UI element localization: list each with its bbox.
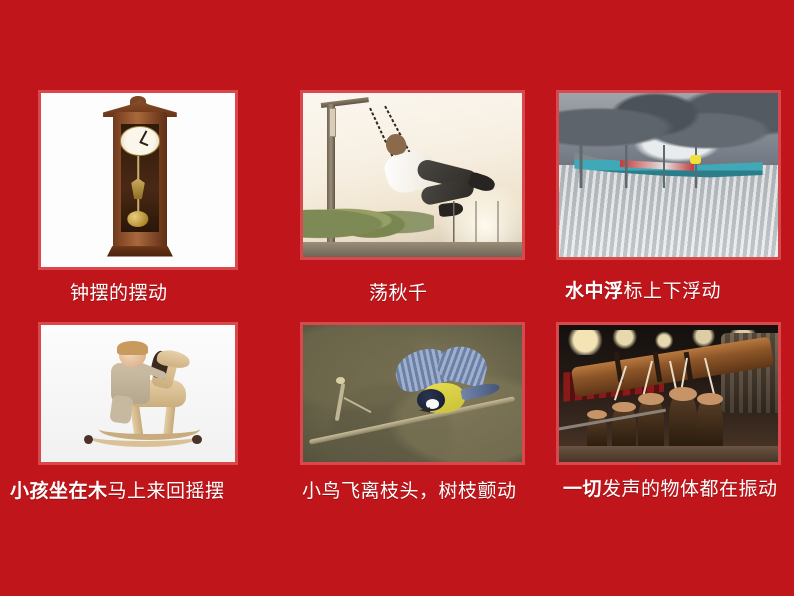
pendulum-bob (127, 211, 148, 227)
clock-base (107, 246, 173, 256)
caption-swing: 荡秋千 (369, 283, 428, 305)
caption-bell-bold: 一切 (563, 479, 602, 500)
image-frame-clock[interactable] (38, 90, 238, 270)
monk-head-2 (638, 393, 664, 406)
image-frame-rocking-horse[interactable] (38, 322, 238, 465)
photo-child-rocking-horse (41, 325, 235, 462)
caption-buoy: 水中浮标上下浮动 (565, 281, 721, 303)
rocker-rail-front (99, 418, 200, 440)
ground-strip (303, 242, 522, 257)
monk-head-4 (697, 393, 723, 406)
caption-horse-rest: 马上来回摇摆 (108, 481, 225, 502)
image-frame-swing[interactable] (300, 90, 525, 260)
image-frame-bird[interactable] (300, 322, 525, 465)
boom-posts (574, 145, 762, 188)
caption-bird: 小鸟飞离枝头，树枝颤动 (302, 481, 517, 503)
caption-clock: 钟摆的摆动 (70, 283, 168, 305)
caption-rocking-horse: 小孩坐在木马上来回摇摆 (10, 481, 225, 503)
image-frame-buoy[interactable] (556, 90, 781, 260)
bird-cheek-patch (426, 399, 439, 409)
photo-floating-boom (559, 93, 778, 257)
photo-child-on-swing (303, 93, 522, 257)
photo-pendulum-clock (41, 93, 235, 267)
photo-monks-striking-bell (559, 325, 778, 462)
clock-dial (120, 126, 161, 156)
caption-temple-bell: 一切发声的物体都在振动 (563, 479, 778, 501)
monk-3 (669, 391, 697, 454)
caption-bird-rest: 小鸟飞离枝头，树枝颤动 (302, 481, 517, 502)
signboard (329, 108, 336, 138)
background-trees (303, 198, 434, 241)
caption-swing-rest: 荡秋千 (369, 283, 428, 304)
image-frame-temple-bell[interactable] (556, 322, 781, 465)
monk-head-1 (612, 402, 636, 413)
hall-floor (559, 446, 778, 462)
caption-buoy-rest: 标上下浮动 (624, 281, 722, 302)
rocker-tip-left (84, 435, 94, 445)
caption-bell-rest: 发声的物体都在振动 (602, 479, 778, 500)
branch-bud (336, 377, 345, 384)
caption-clock-rest: 钟摆的摆动 (70, 283, 168, 304)
monk-head-5 (587, 410, 607, 419)
child-hair (117, 341, 148, 355)
caption-horse-bold: 小孩坐在木 (10, 481, 108, 502)
caption-buoy-bold: 水中浮 (565, 281, 624, 302)
rocker-tip-right (192, 435, 202, 445)
slide-canvas: 钟摆的摆动 荡秋千 水中浮标上下浮动 (0, 0, 794, 596)
photo-bird-on-branch (303, 325, 522, 462)
background-poles (439, 201, 518, 244)
monk-head-3 (669, 387, 697, 401)
yellow-marker-buoy (690, 155, 701, 163)
